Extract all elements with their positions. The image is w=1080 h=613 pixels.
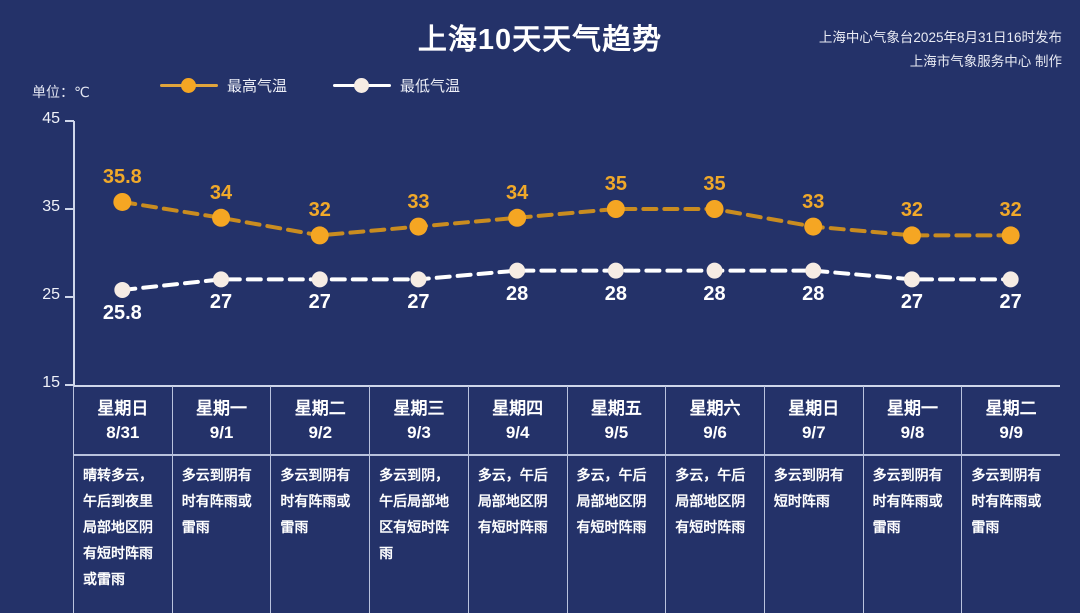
point-label-low: 27: [1000, 291, 1022, 314]
data-point-high[interactable]: [903, 226, 921, 244]
chart-legend: 最高气温 最低气温: [160, 72, 460, 98]
day-separator: [962, 454, 1060, 456]
point-label-low: 25.8: [103, 302, 142, 325]
day-weather-description: 多云到阴有时有阵雨或雷雨: [173, 462, 271, 540]
day-separator: [469, 454, 567, 456]
unit-label: 单位：℃: [32, 82, 90, 102]
day-weather-description: 多云到阴有时有阵雨或雷雨: [962, 462, 1060, 540]
forecast-day-column[interactable]: 星期三9/3多云到阴，午后局部地区有短时阵雨: [369, 386, 468, 613]
forecast-day-table: 星期日8/31晴转多云，午后到夜里局部地区阴有短时阵雨或雷雨星期一9/1多云到阴…: [73, 386, 1060, 613]
data-point-low[interactable]: [114, 282, 130, 298]
data-point-high[interactable]: [1002, 226, 1020, 244]
day-weekday: 星期四: [469, 397, 567, 421]
day-date: 9/9: [962, 421, 1060, 445]
day-weekday: 星期二: [271, 397, 369, 421]
day-weather-description: 多云到阴有时有阵雨或雷雨: [271, 462, 369, 540]
day-separator: [765, 454, 863, 456]
forecast-day-column[interactable]: 星期二9/2多云到阴有时有阵雨或雷雨: [270, 386, 369, 613]
day-weather-description: 多云到阴有时有阵雨或雷雨: [864, 462, 962, 540]
forecast-day-column[interactable]: 星期日8/31晴转多云，午后到夜里局部地区阴有短时阵雨或雷雨: [73, 386, 172, 613]
day-separator: [74, 454, 172, 456]
header: 上海10天天气趋势 上海中心气象台2025年8月31日16时发布 上海市气象服务…: [0, 0, 1080, 72]
day-separator: [666, 454, 764, 456]
day-header: 星期日8/31: [74, 386, 172, 448]
point-label-high: 35: [703, 173, 725, 196]
point-label-low: 27: [309, 291, 331, 314]
forecast-day-column[interactable]: 星期一9/8多云到阴有时有阵雨或雷雨: [863, 386, 962, 613]
day-weekday: 星期日: [765, 397, 863, 421]
day-header: 星期三9/3: [370, 386, 468, 448]
day-weather-description: 多云到阴有短时阵雨: [765, 462, 863, 514]
forecast-day-column[interactable]: 星期六9/6多云，午后局部地区阴有短时阵雨: [665, 386, 764, 613]
forecast-day-column[interactable]: 星期日9/7多云到阴有短时阵雨: [764, 386, 863, 613]
high-temp-marker-icon: [160, 76, 218, 94]
legend-item-low[interactable]: 最低气温: [333, 75, 460, 96]
data-point-low[interactable]: [707, 263, 723, 279]
day-weather-description: 多云到阴，午后局部地区有短时阵雨: [370, 462, 468, 566]
data-point-low[interactable]: [805, 263, 821, 279]
day-header: 星期四9/4: [469, 386, 567, 448]
day-separator: [173, 454, 271, 456]
point-label-high: 35: [605, 173, 627, 196]
point-label-high: 32: [309, 199, 331, 222]
point-label-high: 32: [1000, 199, 1022, 222]
point-label-low: 27: [901, 291, 923, 314]
day-weekday: 星期二: [962, 397, 1060, 421]
day-date: 9/7: [765, 421, 863, 445]
day-weekday: 星期日: [74, 397, 172, 421]
day-weather-description: 多云，午后局部地区阴有短时阵雨: [568, 462, 666, 540]
day-weekday: 星期六: [666, 397, 764, 421]
point-label-high: 33: [407, 191, 429, 214]
data-point-high[interactable]: [311, 226, 329, 244]
point-label-high: 34: [210, 182, 232, 205]
day-weekday: 星期一: [864, 397, 962, 421]
data-point-high[interactable]: [804, 218, 822, 236]
day-header: 星期六9/6: [666, 386, 764, 448]
day-date: 8/31: [74, 421, 172, 445]
issuer-line-publish: 上海中心气象台2025年8月31日16时发布: [819, 26, 1062, 50]
data-point-high[interactable]: [508, 209, 526, 227]
data-point-low[interactable]: [1003, 271, 1019, 287]
day-separator: [568, 454, 666, 456]
data-point-low[interactable]: [509, 263, 525, 279]
day-date: 9/8: [864, 421, 962, 445]
day-separator: [864, 454, 962, 456]
day-weekday: 星期一: [173, 397, 271, 421]
day-weekday: 星期五: [568, 397, 666, 421]
day-date: 9/1: [173, 421, 271, 445]
legend-label-high: 最高气温: [227, 75, 287, 96]
legend-label-low: 最低气温: [400, 75, 460, 96]
point-label-high: 35.8: [103, 166, 142, 189]
issuer-line-producer: 上海市气象服务中心 制作: [819, 50, 1062, 74]
point-label-low: 28: [703, 283, 725, 306]
point-label-low: 28: [506, 283, 528, 306]
day-header: 星期五9/5: [568, 386, 666, 448]
day-header: 星期一9/8: [864, 386, 962, 448]
forecast-day-column[interactable]: 星期一9/1多云到阴有时有阵雨或雷雨: [172, 386, 271, 613]
issuer-block: 上海中心气象台2025年8月31日16时发布 上海市气象服务中心 制作: [819, 26, 1062, 74]
forecast-day-column[interactable]: 星期四9/4多云，午后局部地区阴有短时阵雨: [468, 386, 567, 613]
day-date: 9/2: [271, 421, 369, 445]
data-point-low[interactable]: [312, 271, 328, 287]
point-label-low: 27: [407, 291, 429, 314]
series-svg: [0, 105, 1080, 395]
day-date: 9/6: [666, 421, 764, 445]
day-separator: [370, 454, 468, 456]
point-label-low: 28: [605, 283, 627, 306]
day-header: 星期一9/1: [173, 386, 271, 448]
day-weather-description: 多云，午后局部地区阴有短时阵雨: [666, 462, 764, 540]
series-line-high: [122, 202, 1010, 235]
day-separator: [271, 454, 369, 456]
data-point-low[interactable]: [213, 271, 229, 287]
day-date: 9/5: [568, 421, 666, 445]
point-label-low: 28: [802, 283, 824, 306]
data-point-high[interactable]: [212, 209, 230, 227]
data-point-low[interactable]: [904, 271, 920, 287]
day-header: 星期二9/2: [271, 386, 369, 448]
point-label-high: 33: [802, 191, 824, 214]
forecast-day-column[interactable]: 星期二9/9多云到阴有时有阵雨或雷雨: [961, 386, 1060, 613]
series-line-low: [122, 271, 1010, 290]
data-point-low[interactable]: [608, 263, 624, 279]
day-header: 星期日9/7: [765, 386, 863, 448]
data-point-high[interactable]: [113, 193, 131, 211]
day-header: 星期二9/9: [962, 386, 1060, 448]
legend-item-high[interactable]: 最高气温: [160, 75, 287, 96]
point-label-high: 32: [901, 199, 923, 222]
day-date: 9/4: [469, 421, 567, 445]
forecast-day-column[interactable]: 星期五9/5多云，午后局部地区阴有短时阵雨: [567, 386, 666, 613]
data-point-high[interactable]: [706, 200, 724, 218]
low-temp-marker-icon: [333, 76, 391, 94]
day-date: 9/3: [370, 421, 468, 445]
data-point-high[interactable]: [607, 200, 625, 218]
day-weather-description: 多云，午后局部地区阴有短时阵雨: [469, 462, 567, 540]
day-weekday: 星期三: [370, 397, 468, 421]
data-point-low[interactable]: [410, 271, 426, 287]
data-point-high[interactable]: [409, 218, 427, 236]
point-label-high: 34: [506, 182, 528, 205]
temperature-chart-plot: 45352515 35.834323334353533323225.827272…: [0, 105, 1080, 395]
day-weather-description: 晴转多云，午后到夜里局部地区阴有短时阵雨或雷雨: [74, 462, 172, 592]
point-label-low: 27: [210, 291, 232, 314]
